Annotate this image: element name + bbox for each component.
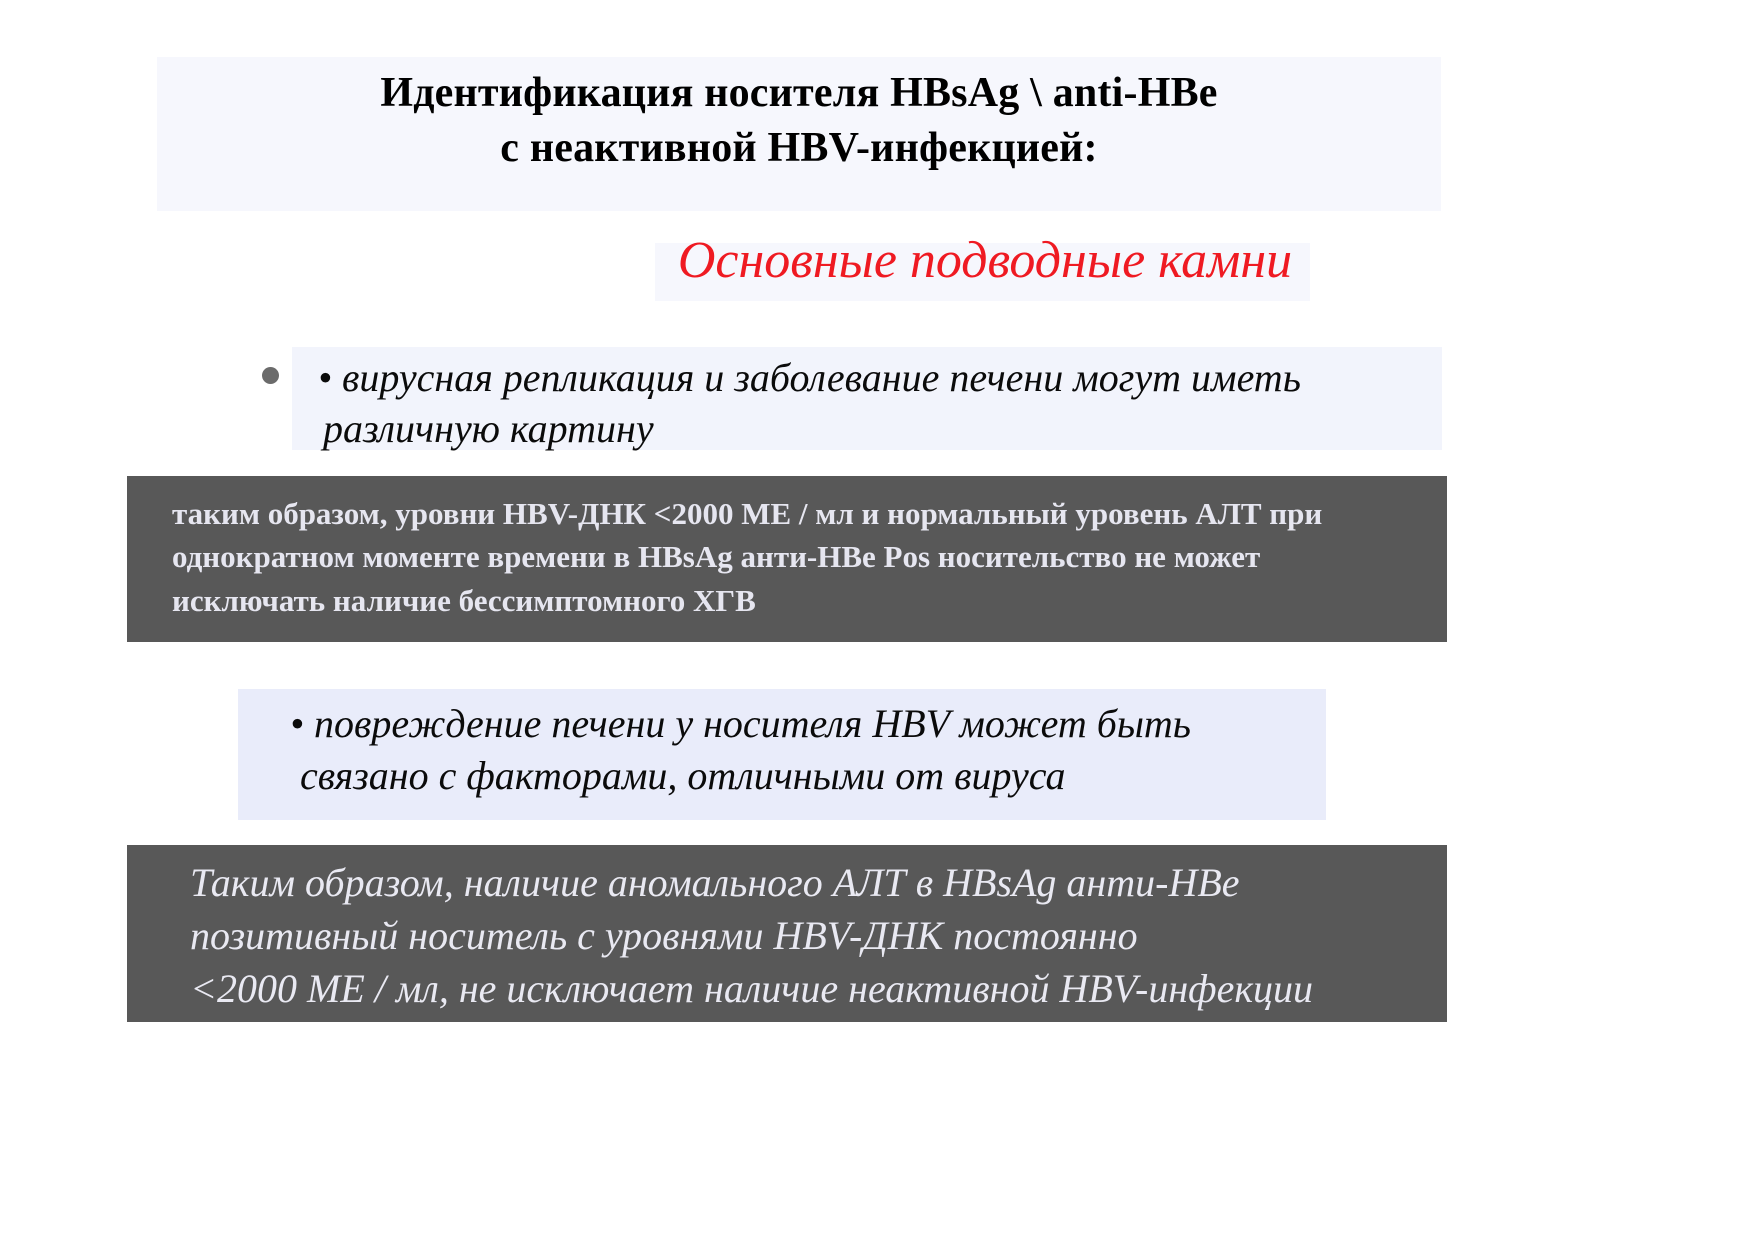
dark-callout-box-1-line-1: таким образом, уровни HBV-ДНК <2000 МЕ /…	[172, 492, 1437, 535]
slide-canvas: Идентификация носителя HBsAg \ anti-HBe …	[0, 0, 1754, 1240]
page-title-line-1: Идентификация носителя HBsAg \ anti-HBe	[157, 66, 1441, 121]
dark-callout-box-2-line-2: позитивный носитель с уровнями HBV-ДНК п…	[190, 910, 1475, 963]
bullet-block-1-line-2: различную картину	[323, 403, 1458, 454]
page-title: Идентификация носителя HBsAg \ anti-HBe …	[157, 66, 1441, 177]
red-heading: Основные подводные камни	[520, 232, 1450, 289]
dark-callout-box-1-line-2: однократном моменте времени в HBsAg анти…	[172, 535, 1437, 578]
dark-callout-box-1-text: таким образом, уровни HBV-ДНК <2000 МЕ /…	[172, 492, 1437, 622]
dark-callout-box-2-line-1: Таким образом, наличие аномального АЛТ в…	[190, 857, 1475, 910]
bullet-block-1: • вирусная репликация и заболевание пече…	[318, 352, 1458, 454]
bullet-block-2-line-2: связано с факторами, отличными от вируса	[300, 750, 1340, 802]
page-title-line-2: с неактивной HBV-инфекцией:	[157, 121, 1441, 176]
bullet-block-2: • повреждение печени у носителя HBV може…	[290, 698, 1340, 802]
dark-callout-box-2-line-3: <2000 МЕ / мл, не исключает наличие неак…	[190, 963, 1475, 1016]
dark-callout-box-1-line-3: исключать наличие бессимптомного ХГВ	[172, 579, 1437, 622]
dark-callout-box-2-text: Таким образом, наличие аномального АЛТ в…	[190, 857, 1475, 1015]
bullet-block-1-line-1: • вирусная репликация и заболевание пече…	[318, 352, 1458, 403]
bullet-marker-icon	[262, 367, 279, 384]
bullet-block-2-line-1: • повреждение печени у носителя HBV може…	[290, 698, 1340, 750]
